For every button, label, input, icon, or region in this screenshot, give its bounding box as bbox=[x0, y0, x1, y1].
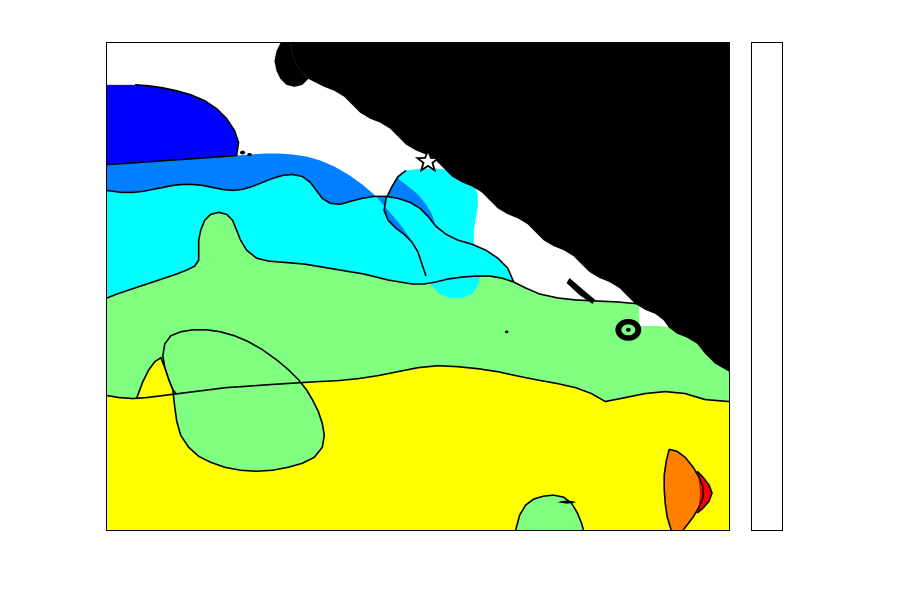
contour-speck bbox=[247, 153, 251, 156]
colorbar[interactable] bbox=[751, 42, 783, 531]
land-islet-ring-center bbox=[626, 328, 631, 332]
contour-speck-small bbox=[505, 330, 508, 333]
sst-contour-svg bbox=[107, 43, 729, 530]
sst-map-figure bbox=[0, 0, 900, 600]
y-tick-labels bbox=[0, 0, 96, 600]
map-plot-area[interactable] bbox=[106, 42, 730, 531]
contour-speck bbox=[240, 151, 245, 155]
